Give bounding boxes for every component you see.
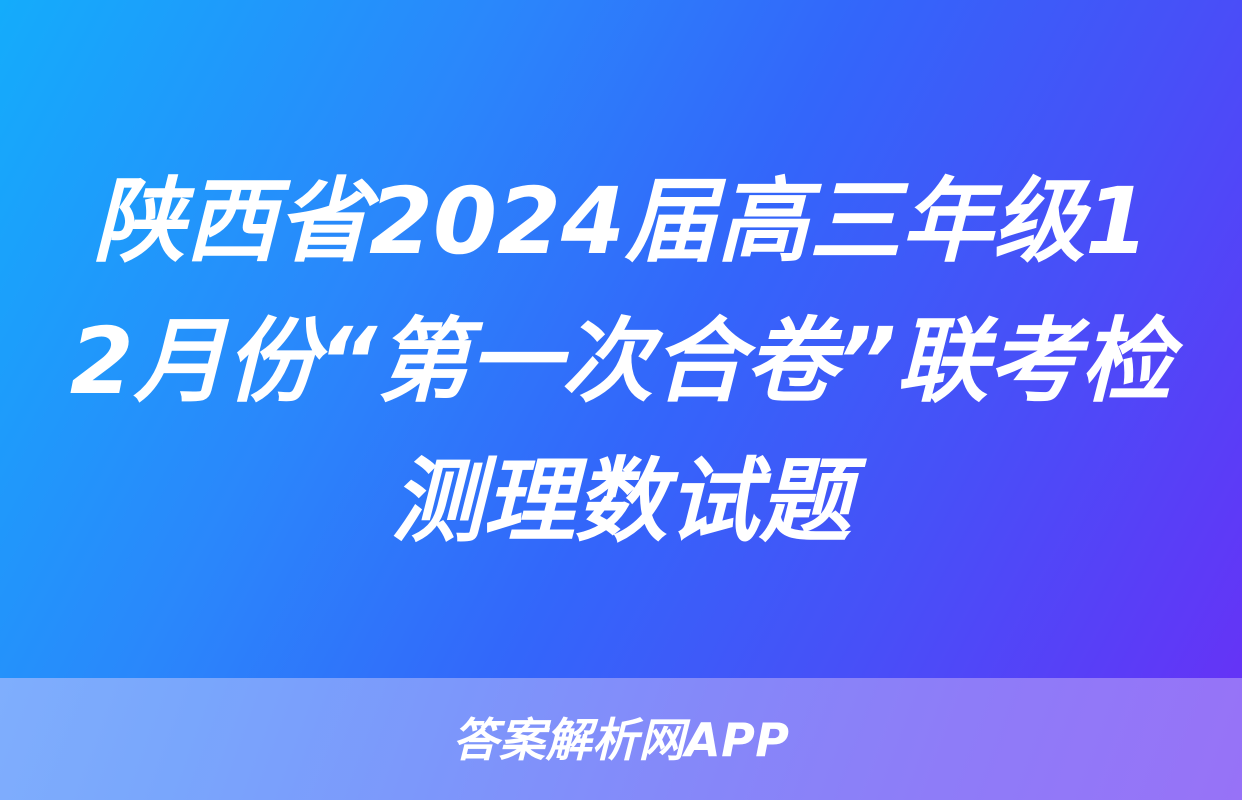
page-title: 陕西省2024届高三年级12月份“第一次合卷”联考检测理数试题 bbox=[66, 152, 1176, 572]
title-block: 陕西省2024届高三年级12月份“第一次合卷”联考检测理数试题 bbox=[0, 0, 1242, 678]
watermark-brand-label: 答案解析网APP bbox=[452, 717, 789, 763]
cover-image: 陕西省2024届高三年级12月份“第一次合卷”联考检测理数试题 答案解析网APP bbox=[0, 0, 1242, 800]
watermark-band: 答案解析网APP bbox=[0, 678, 1242, 800]
